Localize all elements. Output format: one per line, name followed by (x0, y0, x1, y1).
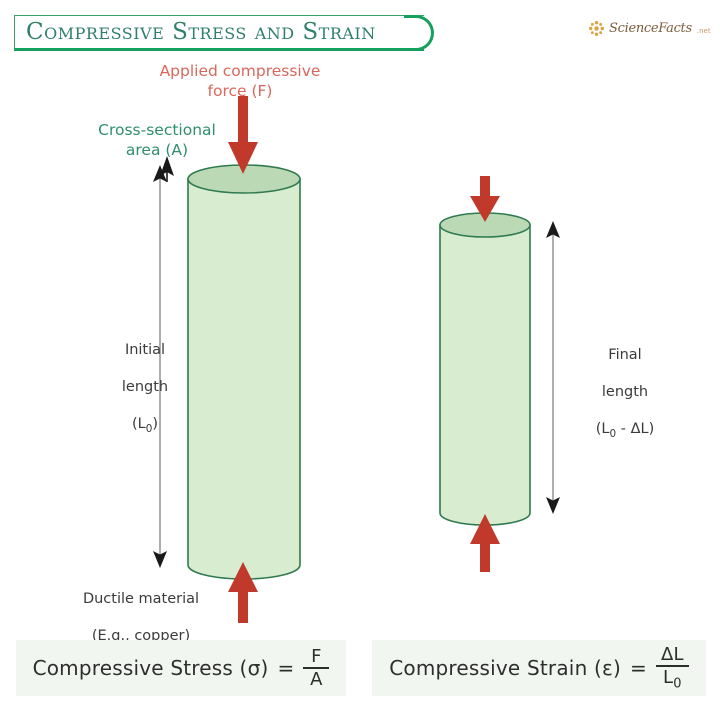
diagram-page: Compressive Stress and Strain ScienceFac… (0, 0, 720, 708)
applied-force-label: Applied compressive force (F) (140, 62, 340, 102)
final-cylinder (440, 213, 530, 525)
initial-length-paren-open: (L (132, 416, 146, 432)
stress-formula-lhs: Compressive Stress (σ) (33, 656, 269, 680)
atom-icon (588, 20, 605, 37)
logo-tld: .net (697, 27, 711, 35)
stress-numerator: F (306, 647, 327, 667)
strain-denominator-base: L (663, 667, 673, 688)
right-top-force-arrow (470, 176, 500, 222)
logo-wordmark: ScienceFacts (609, 21, 692, 36)
final-length-line-3: (L0 - ΔL) (555, 420, 695, 441)
initial-length-line-2: length (90, 378, 200, 397)
strain-fraction: ΔL L0 (656, 645, 689, 692)
ductile-line-1: Ductile material (46, 590, 236, 609)
page-title: Compressive Stress and Strain (26, 19, 416, 45)
compressive-strain-formula: Compressive Strain (ε) = ΔL L0 (372, 640, 706, 696)
initial-length-paren-close: ) (152, 416, 158, 432)
cross-sectional-area-label: Cross-sectional area (A) (72, 121, 242, 161)
strain-formula-equals: = (630, 656, 647, 680)
force-arrow-group (228, 96, 500, 623)
final-length-paren-open: (L (596, 421, 610, 437)
strain-numerator: ΔL (656, 645, 689, 665)
initial-length-label: Initial length (L0) (90, 322, 200, 455)
compressive-stress-formula: Compressive Stress (σ) = F A (16, 640, 346, 696)
right-bottom-force-arrow (470, 514, 500, 572)
initial-cylinder (188, 165, 300, 579)
initial-length-line-1: Initial (90, 341, 200, 360)
measurement-arrow-group (153, 156, 560, 568)
stress-denominator: A (305, 669, 328, 689)
site-logo[interactable]: ScienceFacts .net (588, 20, 711, 37)
strain-denominator: L0 (658, 667, 687, 692)
final-length-label: Final length (L0 - ΔL) (555, 327, 695, 460)
initial-length-line-3: (L0) (90, 415, 200, 436)
strain-formula-lhs: Compressive Strain (ε) (389, 656, 621, 680)
stress-formula-equals: = (277, 656, 294, 680)
final-length-delta: - ΔL) (616, 421, 654, 437)
final-length-line-1: Final (555, 346, 695, 365)
strain-denominator-subscript: 0 (673, 676, 681, 691)
stress-fraction: F A (303, 647, 329, 689)
final-length-line-2: length (555, 383, 695, 402)
